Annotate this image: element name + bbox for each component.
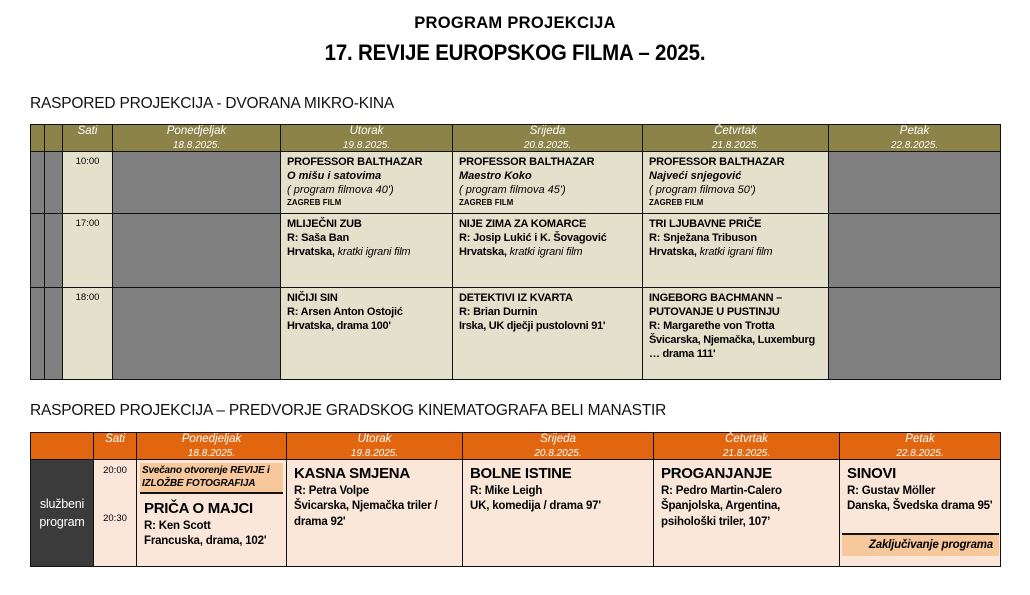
opening-line2: IZLOŽBE FOTOGRAFIJA	[142, 478, 255, 489]
table-row: 17:00 MLIJEČNI ZUB R: Saša Ban Hrvatska,…	[31, 214, 1001, 288]
col-header-monday: Ponedjeljak 18.8.2025.	[137, 433, 287, 460]
table-row: 18:00 NIČIJI SIN R: Arsen Anton Ostojić …	[31, 288, 1001, 380]
film-country-genre: Hrvatska, kratki igrani film	[459, 246, 637, 260]
film-title: MLIJEČNI ZUB	[287, 218, 447, 232]
film-title: KASNA SMJENA	[294, 464, 456, 484]
page-title-line2: 17. REVIJE EUROPSKOG FILMA – 2025.	[36, 40, 994, 66]
col-header-monday: Ponedjeljak 18.8.2025.	[113, 125, 281, 152]
spacer-cell-a	[31, 288, 45, 380]
schedule-table-predvorje: Sati Ponedjeljak 18.8.2025. Utorak 19.8.…	[30, 432, 1001, 567]
film-info: Irska, UK dječji pustolovni 91'	[459, 320, 637, 334]
film-country-genre: Hrvatska, kratki igrani film	[649, 246, 823, 260]
col-header-hours: Sati	[94, 433, 137, 460]
film-title: PROGANJANJE	[661, 464, 833, 484]
film-title: SINOVI	[847, 464, 994, 484]
row-label-line1: službeni	[40, 497, 84, 511]
film-program-note: ( program filmova 40')	[287, 184, 447, 198]
film-country: Hrvatska,	[287, 246, 335, 258]
spacer-col-b	[45, 125, 63, 152]
film-cell-empty-monday	[113, 288, 281, 380]
document-title-block: PROGRAM PROJEKCIJA 17. REVIJE EUROPSKOG …	[0, 0, 1030, 66]
time-cell: 17:00	[63, 214, 113, 288]
film-producer: ZAGREB FILM	[287, 198, 447, 208]
film-info: Švicarska, Njemačka, Luxemburg	[649, 334, 823, 348]
col-header-hours: Sati	[63, 125, 113, 152]
film-title: BOLNE ISTINE	[470, 464, 647, 484]
row-label-line2: program	[39, 515, 84, 529]
film-program-note: ( program filmova 45')	[459, 184, 637, 198]
film-director: R: Margarethe von Trotta	[649, 320, 823, 334]
film-director: R: Pedro Martin-Calero	[661, 484, 833, 499]
spacer-col-a	[31, 125, 45, 152]
program-page: PROGRAM PROJEKCIJA 17. REVIJE EUROPSKOG …	[0, 0, 1030, 595]
film-genre: kratki igrani film	[338, 246, 411, 258]
film-cell-thursday: TRI LJUBAVNE PRIČE R: Snježana Tribuson …	[643, 214, 829, 288]
film-info-line2: psihološki triler, 107’	[661, 515, 833, 530]
col-header-program-label	[31, 433, 94, 460]
film-director: R: Snježana Tribuson	[649, 232, 823, 246]
page-title-line1: PROGRAM PROJEKCIJA	[0, 14, 1030, 33]
film-cell-tuesday: NIČIJI SIN R: Arsen Anton Ostojić Hrvats…	[281, 288, 453, 380]
film-cell-tuesday: MLIJEČNI ZUB R: Saša Ban Hrvatska, kratk…	[281, 214, 453, 288]
film-title: PROFESSOR BALTHAZAR	[287, 156, 447, 170]
col-header-wednesday: Srijeda 20.8.2025.	[463, 433, 654, 460]
film-country: Hrvatska,	[459, 246, 507, 258]
film-info: Španjolska, Argentina,	[661, 499, 833, 514]
opening-line1: Svečano otvorenje REVIJE i	[142, 465, 270, 476]
film-info: UK, komedija / drama 97'	[470, 499, 647, 514]
col-header-thursday: Četvrtak 21.8.2025.	[654, 433, 840, 460]
film-info: Francuska, drama, 102'	[144, 534, 280, 549]
film-info: Švicarska, Njemačka triler /	[294, 499, 456, 514]
table-header-row: Sati Ponedjeljak 18.8.2025. Utorak 19.8.…	[31, 433, 1001, 460]
film-cell-wednesday: NIJE ZIMA ZA KOMARCE R: Josip Lukić i K.…	[453, 214, 643, 288]
film-cell-friday: SINOVI R: Gustav Möller Danska, Švedska …	[840, 460, 1001, 567]
film-genre: kratki igrani film	[510, 246, 583, 258]
table-row: službeni program 20:00 20:30 Svečano otv…	[31, 460, 1001, 567]
film-producer: ZAGREB FILM	[459, 198, 637, 208]
film-genre: kratki igrani film	[700, 246, 773, 258]
film-title: PROFESSOR BALTHAZAR	[459, 156, 637, 170]
film-director: R: Brian Durnin	[459, 306, 637, 320]
time-first: 20:00	[94, 465, 136, 476]
film-director: R: Josip Lukić i K. Šovagović	[459, 232, 637, 246]
film-director: R: Mike Leigh	[470, 484, 647, 499]
film-cell-wednesday: PROFESSOR BALTHAZAR Maestro Koko ( progr…	[453, 152, 643, 214]
film-cell-empty-monday	[113, 152, 281, 214]
film-cell-thursday: PROFESSOR BALTHAZAR Najveći snjegović ( …	[643, 152, 829, 214]
time-cell-group: 20:00 20:30	[94, 460, 137, 567]
film-director: R: Petra Volpe	[294, 484, 456, 499]
spacer-cell-b	[45, 152, 63, 214]
film-country: Hrvatska,	[649, 246, 697, 258]
time-cell: 10:00	[63, 152, 113, 214]
film-cell-monday: Svečano otvorenje REVIJE i IZLOŽBE FOTOG…	[137, 460, 287, 567]
film-title: PRIČA O MAJCI	[144, 499, 280, 519]
schedule-table-mikro-kina: Sati Ponedjeljak 18.8.2025. Utorak 19.8.…	[30, 124, 1001, 380]
film-director: R: Arsen Anton Ostojić	[287, 306, 447, 320]
section-heading-mikro-kina: RASPORED PROJEKCIJA - DVORANA MIKRO-KINA	[30, 95, 394, 113]
film-title: DETEKTIVI IZ KVARTA	[459, 292, 637, 306]
film-cell-empty-monday	[113, 214, 281, 288]
film-country-genre: Hrvatska, kratki igrani film	[287, 246, 447, 260]
film-producer: ZAGREB FILM	[649, 198, 823, 208]
time-cell: 18:00	[63, 288, 113, 380]
film-title: NIČIJI SIN	[287, 292, 447, 306]
film-title: TRI LJUBAVNE PRIČE	[649, 218, 823, 232]
opening-ceremony-band: Svečano otvorenje REVIJE i IZLOŽBE FOTOG…	[140, 463, 283, 494]
film-title: NIJE ZIMA ZA KOMARCE	[459, 218, 637, 232]
film-cell-tuesday: KASNA SMJENA R: Petra Volpe Švicarska, N…	[287, 460, 463, 567]
film-program-note: ( program filmova 50')	[649, 184, 823, 198]
spacer-cell-b	[45, 288, 63, 380]
film-title: INGEBORG BACHMANN –	[649, 292, 823, 306]
film-director: R: Gustav Möller	[847, 484, 994, 499]
film-title-line2: PUTOVANJE U PUSTINJU	[649, 306, 823, 320]
spacer-cell-b	[45, 214, 63, 288]
spacer-cell-a	[31, 152, 45, 214]
film-subtitle: Maestro Koko	[459, 170, 637, 184]
row-label-sluzbeni-program: službeni program	[31, 460, 94, 567]
film-info: Hrvatska, drama 100'	[287, 320, 447, 334]
table-row: 10:00 PROFESSOR BALTHAZAR O mišu i satov…	[31, 152, 1001, 214]
time-second: 20:30	[94, 513, 136, 524]
spacer-cell-a	[31, 214, 45, 288]
film-cell-thursday: PROGANJANJE R: Pedro Martin-Calero Španj…	[654, 460, 840, 567]
section-heading-predvorje: RASPORED PROJEKCIJA – PREDVORJE GRADSKOG…	[30, 402, 666, 420]
film-cell-tuesday: PROFESSOR BALTHAZAR O mišu i satovima ( …	[281, 152, 453, 214]
col-header-wednesday: Srijeda 20.8.2025.	[453, 125, 643, 152]
film-title: PROFESSOR BALTHAZAR	[649, 156, 823, 170]
col-header-thursday: Četvrtak 21.8.2025.	[643, 125, 829, 152]
film-info-line2: … drama 111'	[649, 348, 823, 362]
film-info-line2: drama 92'	[294, 515, 456, 530]
closing-ceremony-band: Zaključivanje programa	[842, 533, 999, 556]
film-director: R: Saša Ban	[287, 232, 447, 246]
col-header-friday: Petak 22.8.2025.	[829, 125, 1001, 152]
film-subtitle: O mišu i satovima	[287, 170, 447, 184]
film-cell-wednesday: BOLNE ISTINE R: Mike Leigh UK, komedija …	[463, 460, 654, 567]
film-subtitle: Najveći snjegović	[649, 170, 823, 184]
table-header-row: Sati Ponedjeljak 18.8.2025. Utorak 19.8.…	[31, 125, 1001, 152]
film-cell-wednesday: DETEKTIVI IZ KVARTA R: Brian Durnin Irsk…	[453, 288, 643, 380]
film-cell-empty-friday	[829, 152, 1001, 214]
film-director: R: Ken Scott	[144, 519, 280, 534]
col-header-tuesday: Utorak 19.8.2025.	[287, 433, 463, 460]
film-cell-thursday: INGEBORG BACHMANN – PUTOVANJE U PUSTINJU…	[643, 288, 829, 380]
col-header-tuesday: Utorak 19.8.2025.	[281, 125, 453, 152]
col-header-friday: Petak 22.8.2025.	[840, 433, 1001, 460]
film-cell-empty-friday	[829, 288, 1001, 380]
film-cell-empty-friday	[829, 214, 1001, 288]
film-info: Danska, Švedska drama 95'	[847, 499, 994, 514]
